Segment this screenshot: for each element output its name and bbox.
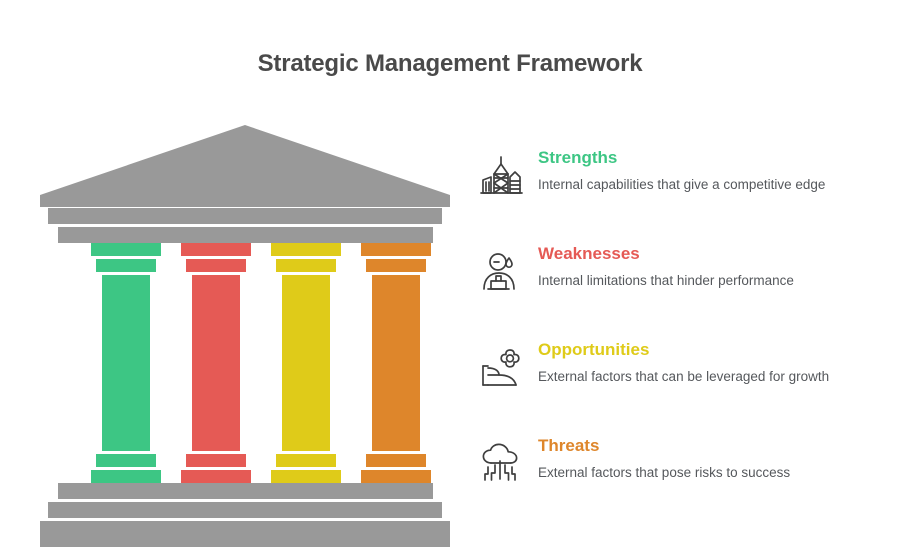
swot-heading: Threats: [538, 436, 868, 456]
hand-flower-gear-icon: [474, 342, 530, 394]
buildings-crane-icon: [474, 150, 530, 202]
base-step-middle: [48, 502, 442, 518]
pillar-base-wide: [181, 470, 251, 483]
pillar-base-wide: [91, 470, 161, 483]
swot-item-strengths: Strengths Internal capabilities that giv…: [474, 148, 874, 244]
swot-item-weaknesses: Weaknesses Internal limitations that hin…: [474, 244, 874, 340]
pillar-base-wide: [271, 470, 341, 483]
pillar-base-mid: [186, 454, 246, 467]
pillar-strengths: [86, 243, 166, 481]
pillar-base-mid: [96, 454, 156, 467]
stressed-person-icon: [474, 246, 530, 298]
swot-heading: Opportunities: [538, 340, 868, 360]
pillar-capital-mid: [96, 259, 156, 272]
pillar-base-mid: [366, 454, 426, 467]
pillar-capital-wide: [91, 243, 161, 256]
swot-description: Internal capabilities that give a compet…: [538, 176, 868, 194]
base-step-top: [58, 483, 433, 499]
swot-description: External factors that can be leveraged f…: [538, 368, 868, 386]
pillar-capital-wide: [181, 243, 251, 256]
pillar-capital-mid: [276, 259, 336, 272]
pillar-capital-wide: [271, 243, 341, 256]
pillar-threats: [356, 243, 436, 481]
page-title: Strategic Management Framework: [0, 50, 900, 78]
swot-body: Threats External factors that pose risks…: [538, 436, 868, 482]
swot-item-threats: Threats External factors that pose risks…: [474, 436, 874, 532]
base-step-bottom: [40, 521, 450, 547]
pillar-capital-mid: [186, 259, 246, 272]
swot-body: Weaknesses Internal limitations that hin…: [538, 244, 868, 290]
pillar-base-mid: [276, 454, 336, 467]
pillar-shaft: [372, 275, 420, 451]
temple-roof-icon: [40, 125, 450, 207]
swot-heading: Weaknesses: [538, 244, 868, 264]
swot-description: Internal limitations that hinder perform…: [538, 272, 868, 290]
swot-list: Strengths Internal capabilities that giv…: [474, 148, 874, 532]
swot-body: Strengths Internal capabilities that giv…: [538, 148, 868, 194]
pillar-opportunities: [266, 243, 346, 481]
entablature-upper: [48, 208, 442, 224]
pillar-shaft: [282, 275, 330, 451]
swot-description: External factors that pose risks to succ…: [538, 464, 868, 482]
swot-heading: Strengths: [538, 148, 868, 168]
pillar-capital-wide: [361, 243, 431, 256]
pillar-shaft: [192, 275, 240, 451]
pillar-group: [40, 243, 450, 481]
rain-cloud-icon: [474, 438, 530, 490]
pillar-shaft: [102, 275, 150, 451]
swot-item-opportunities: Opportunities External factors that can …: [474, 340, 874, 436]
entablature-lower: [58, 227, 433, 243]
swot-body: Opportunities External factors that can …: [538, 340, 868, 386]
roof-pediment: [40, 125, 450, 207]
temple-illustration: [40, 125, 450, 540]
pillar-base-wide: [361, 470, 431, 483]
pillar-weaknesses: [176, 243, 256, 481]
pillar-capital-mid: [366, 259, 426, 272]
